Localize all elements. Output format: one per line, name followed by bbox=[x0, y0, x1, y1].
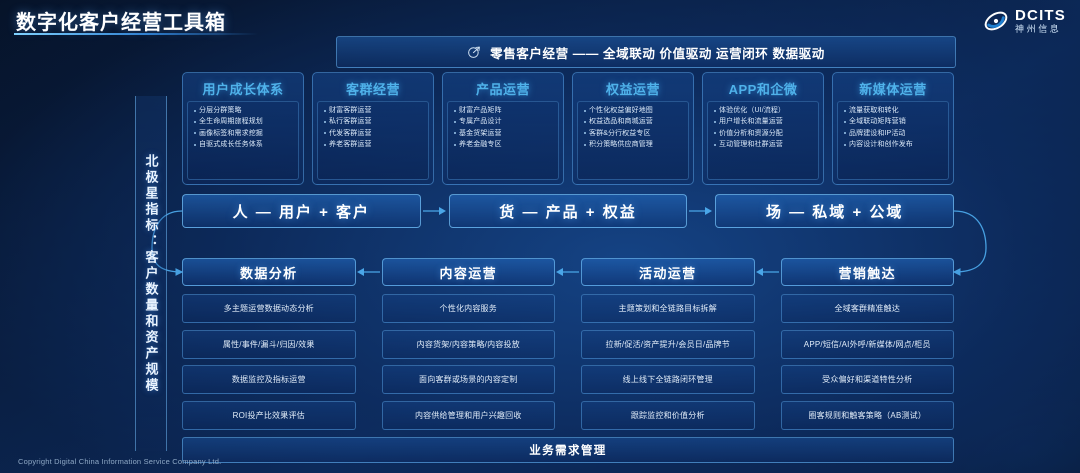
north-star-label: 北极星指标：客户数量和资产规模 bbox=[135, 96, 167, 451]
arrow-left-icon bbox=[555, 258, 581, 286]
card-item: 价值分析和资源分配 bbox=[712, 128, 816, 139]
grid-column-data-analysis: 多主题运营数据动态分析 属性/事件/漏斗/归因/效果 数据监控及指标运营 ROI… bbox=[182, 294, 356, 430]
bullet-dot bbox=[194, 121, 196, 123]
target-arrow-icon bbox=[467, 45, 481, 59]
people-goods-place-row: 人 — 用户 + 客户 货 — 产品 + 权益 场 — 私域 + 公域 bbox=[182, 194, 954, 228]
bullet-dot bbox=[454, 132, 456, 134]
card-item: 全域联动矩阵营销 bbox=[842, 116, 946, 127]
section-head-content-ops[interactable]: 内容运营 bbox=[382, 258, 556, 286]
card-item: 体验优化（UI/流程） bbox=[712, 105, 816, 116]
bullet-dot bbox=[844, 132, 846, 134]
pill-people[interactable]: 人 — 用户 + 客户 bbox=[182, 194, 421, 228]
grid-cell[interactable]: 内容货架/内容策略/内容投放 bbox=[382, 330, 556, 359]
card-item: 流量获取和转化 bbox=[842, 105, 946, 116]
bullet-dot bbox=[584, 121, 586, 123]
card-item: 互动管理和社群运营 bbox=[712, 139, 816, 150]
bullet-dot bbox=[844, 121, 846, 123]
card-title: 客群经营 bbox=[317, 77, 429, 101]
title-underline bbox=[14, 33, 258, 35]
grid-cell[interactable]: 属性/事件/漏斗/归因/效果 bbox=[182, 330, 356, 359]
card-title: 产品运营 bbox=[447, 77, 559, 101]
capability-card[interactable]: 用户成长体系 分层分群策略 全生命周期旅程规划 画像标签和需求挖掘 自驱式成长任… bbox=[182, 72, 304, 185]
bullet-dot bbox=[454, 144, 456, 146]
card-item: 自驱式成长任务体系 bbox=[192, 139, 296, 150]
brand-logo: DCITS 神州信息 bbox=[983, 8, 1066, 34]
card-body: 体验优化（UI/流程） 用户增长和流量运营 价值分析和资源分配 互动管理和社群运… bbox=[707, 101, 819, 180]
section-head-data-analysis[interactable]: 数据分析 bbox=[182, 258, 356, 286]
section-head-campaign-ops[interactable]: 活动运营 bbox=[581, 258, 755, 286]
north-star-text: 北极星指标：客户数量和资产规模 bbox=[142, 154, 161, 394]
card-item: 个性化权益偏好地图 bbox=[582, 105, 686, 116]
bullet-dot bbox=[584, 110, 586, 112]
grid-cell[interactable]: 主题策划和全链路目标拆解 bbox=[581, 294, 755, 323]
bullet-dot bbox=[324, 132, 326, 134]
card-item: 客群&分行权益专区 bbox=[582, 128, 686, 139]
card-item: 全生命周期旅程规划 bbox=[192, 116, 296, 127]
grid-cell[interactable]: ROI投产比效果评估 bbox=[182, 401, 356, 430]
card-title: 新媒体运营 bbox=[837, 77, 949, 101]
card-body: 财富产品矩阵 专属产品设计 基金货架运营 养老金融专区 bbox=[447, 101, 559, 180]
bullet-dot bbox=[714, 121, 716, 123]
capability-cards: 用户成长体系 分层分群策略 全生命周期旅程规划 画像标签和需求挖掘 自驱式成长任… bbox=[182, 72, 954, 185]
card-item: 基金货架运营 bbox=[452, 128, 556, 139]
card-body: 财富客群运营 私行客群运营 代发客群运营 养老客群运营 bbox=[317, 101, 429, 180]
bullet-dot bbox=[454, 121, 456, 123]
card-title: 权益运营 bbox=[577, 77, 689, 101]
bullet-dot bbox=[194, 110, 196, 112]
grid-cell[interactable]: 受众偏好和渠道特性分析 bbox=[781, 365, 955, 394]
card-body: 分层分群策略 全生命周期旅程规划 画像标签和需求挖掘 自驱式成长任务体系 bbox=[187, 101, 299, 180]
logo-name: DCITS bbox=[1015, 8, 1066, 23]
retail-banner: 零售客户经营 —— 全域联动 价值驱动 运营闭环 数据驱动 bbox=[336, 36, 956, 68]
grid-cell[interactable]: 内容供给管理和用户兴趣回收 bbox=[382, 401, 556, 430]
card-item: 养老金融专区 bbox=[452, 139, 556, 150]
card-item: 分层分群策略 bbox=[192, 105, 296, 116]
card-body: 个性化权益偏好地图 权益选品和商城运营 客群&分行权益专区 积分策略供应商管理 bbox=[577, 101, 689, 180]
card-item: 用户增长和流量运营 bbox=[712, 116, 816, 127]
bullet-dot bbox=[194, 132, 196, 134]
slide-canvas: 数字化客户经营工具箱 DCITS 神州信息 北极星指标：客户数量和资产规模 零售… bbox=[0, 0, 1080, 473]
grid-cell[interactable]: 多主题运营数据动态分析 bbox=[182, 294, 356, 323]
capability-card[interactable]: 新媒体运营 流量获取和转化 全域联动矩阵营销 品牌建设和IP活动 内容设计和创作… bbox=[832, 72, 954, 185]
arrow-left-icon bbox=[356, 258, 382, 286]
bullet-dot bbox=[324, 144, 326, 146]
copyright-footer: Copyright Digital China Information Serv… bbox=[18, 457, 221, 466]
grid-column-marketing-reach: 全域客群精准触达 APP/短信/AI外呼/新媒体/网点/柜员 受众偏好和渠道特性… bbox=[781, 294, 955, 430]
card-title: 用户成长体系 bbox=[187, 77, 299, 101]
page-title: 数字化客户经营工具箱 bbox=[16, 6, 226, 35]
bullet-dot bbox=[714, 110, 716, 112]
capability-card[interactable]: 权益运营 个性化权益偏好地图 权益选品和商城运营 客群&分行权益专区 积分策略供… bbox=[572, 72, 694, 185]
card-item: 积分策略供应商管理 bbox=[582, 139, 686, 150]
pill-place[interactable]: 场 — 私域 + 公域 bbox=[715, 194, 954, 228]
grid-cell[interactable]: 面向客群或场景的内容定制 bbox=[382, 365, 556, 394]
grid-cell[interactable]: 跟踪监控和价值分析 bbox=[581, 401, 755, 430]
grid-cell[interactable]: 数据监控及指标运营 bbox=[182, 365, 356, 394]
card-item: 专属产品设计 bbox=[452, 116, 556, 127]
card-item: 画像标签和需求挖掘 bbox=[192, 128, 296, 139]
card-title: APP和企微 bbox=[707, 77, 819, 101]
card-body: 流量获取和转化 全域联动矩阵营销 品牌建设和IP活动 内容设计和创作发布 bbox=[837, 101, 949, 180]
capability-card[interactable]: 产品运营 财富产品矩阵 专属产品设计 基金货架运营 养老金融专区 bbox=[442, 72, 564, 185]
card-item: 养老客群运营 bbox=[322, 139, 426, 150]
bullet-dot bbox=[584, 144, 586, 146]
grid-cell[interactable]: 个性化内容服务 bbox=[382, 294, 556, 323]
dcits-swirl-icon bbox=[983, 8, 1009, 34]
grid-cell[interactable]: 全域客群精准触达 bbox=[781, 294, 955, 323]
card-item: 代发客群运营 bbox=[322, 128, 426, 139]
capability-card[interactable]: APP和企微 体验优化（UI/流程） 用户增长和流量运营 价值分析和资源分配 互… bbox=[702, 72, 824, 185]
arrow-left-icon bbox=[755, 258, 781, 286]
grid-cell[interactable]: 圈客规则和触客策略（AB测试） bbox=[781, 401, 955, 430]
card-item: 私行客群运营 bbox=[322, 116, 426, 127]
bullet-dot bbox=[324, 110, 326, 112]
operation-section-headers: 数据分析 内容运营 活动运营 营销触达 bbox=[182, 258, 954, 286]
card-item: 财富产品矩阵 bbox=[452, 105, 556, 116]
operation-detail-grid: 多主题运营数据动态分析 属性/事件/漏斗/归因/效果 数据监控及指标运营 ROI… bbox=[182, 294, 954, 430]
capability-card[interactable]: 客群经营 财富客群运营 私行客群运营 代发客群运营 养老客群运营 bbox=[312, 72, 434, 185]
card-item: 内容设计和创作发布 bbox=[842, 139, 946, 150]
banner-text: 零售客户经营 —— 全域联动 价值驱动 运营闭环 数据驱动 bbox=[490, 43, 825, 62]
card-item: 品牌建设和IP活动 bbox=[842, 128, 946, 139]
bullet-dot bbox=[714, 132, 716, 134]
bullet-dot bbox=[194, 144, 196, 146]
bullet-dot bbox=[844, 110, 846, 112]
bullet-dot bbox=[584, 132, 586, 134]
card-item: 权益选品和商城运营 bbox=[582, 116, 686, 127]
arrow-right-icon bbox=[421, 194, 449, 228]
grid-cell[interactable]: 拉新/促活/资产提升/会员日/品牌节 bbox=[581, 330, 755, 359]
grid-cell[interactable]: 线上线下全链路闭环管理 bbox=[581, 365, 755, 394]
grid-cell[interactable]: APP/短信/AI外呼/新媒体/网点/柜员 bbox=[781, 330, 955, 359]
grid-column-content-ops: 个性化内容服务 内容货架/内容策略/内容投放 面向客群或场景的内容定制 内容供给… bbox=[382, 294, 556, 430]
business-requirement-bar[interactable]: 业务需求管理 bbox=[182, 437, 954, 463]
bullet-dot bbox=[714, 144, 716, 146]
logo-subname: 神州信息 bbox=[1015, 25, 1066, 34]
bullet-dot bbox=[454, 110, 456, 112]
grid-column-campaign-ops: 主题策划和全链路目标拆解 拉新/促活/资产提升/会员日/品牌节 线上线下全链路闭… bbox=[581, 294, 755, 430]
arrow-right-icon bbox=[687, 194, 715, 228]
card-item: 财富客群运营 bbox=[322, 105, 426, 116]
pill-goods[interactable]: 货 — 产品 + 权益 bbox=[449, 194, 688, 228]
section-head-marketing-reach[interactable]: 营销触达 bbox=[781, 258, 955, 286]
bullet-dot bbox=[324, 121, 326, 123]
bullet-dot bbox=[844, 144, 846, 146]
